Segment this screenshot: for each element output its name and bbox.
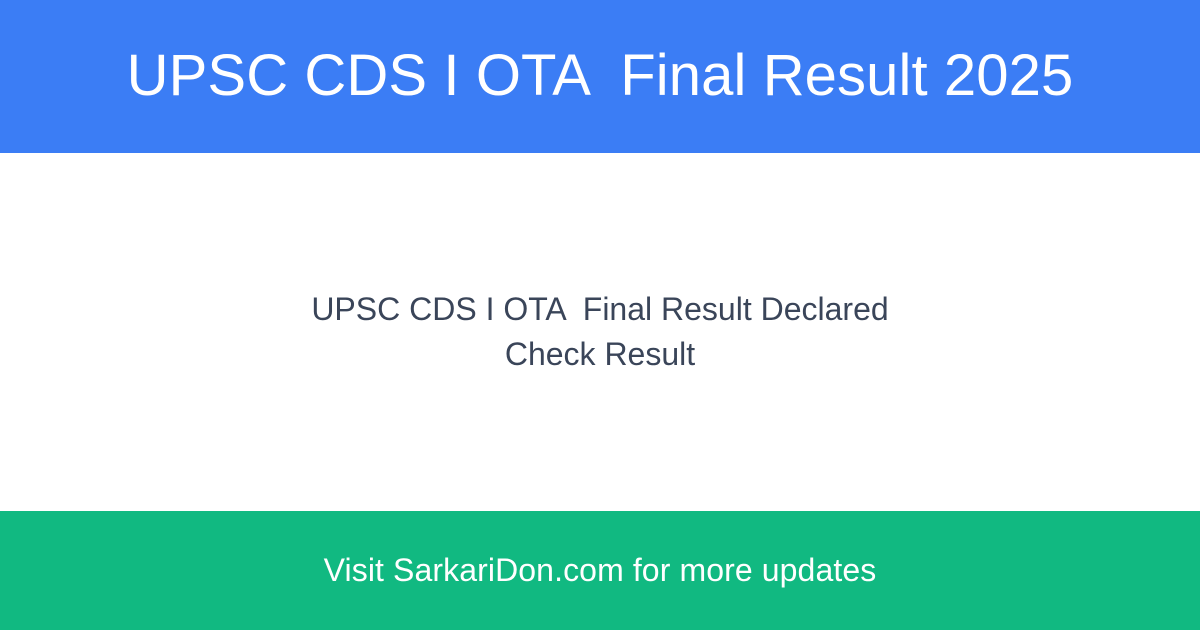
footer-cta-text: Visit SarkariDon.com for more updates bbox=[324, 551, 877, 589]
footer-banner: Visit SarkariDon.com for more updates bbox=[0, 511, 1200, 630]
header-banner: UPSC CDS I OTA Final Result 2025 bbox=[0, 0, 1200, 153]
main-content: UPSC CDS I OTA Final Result Declared Che… bbox=[0, 153, 1200, 511]
result-announcement-poster: UPSC CDS I OTA Final Result 2025 UPSC CD… bbox=[0, 0, 1200, 630]
announcement-message: UPSC CDS I OTA Final Result Declared Che… bbox=[280, 287, 920, 377]
page-title: UPSC CDS I OTA Final Result 2025 bbox=[103, 44, 1098, 109]
